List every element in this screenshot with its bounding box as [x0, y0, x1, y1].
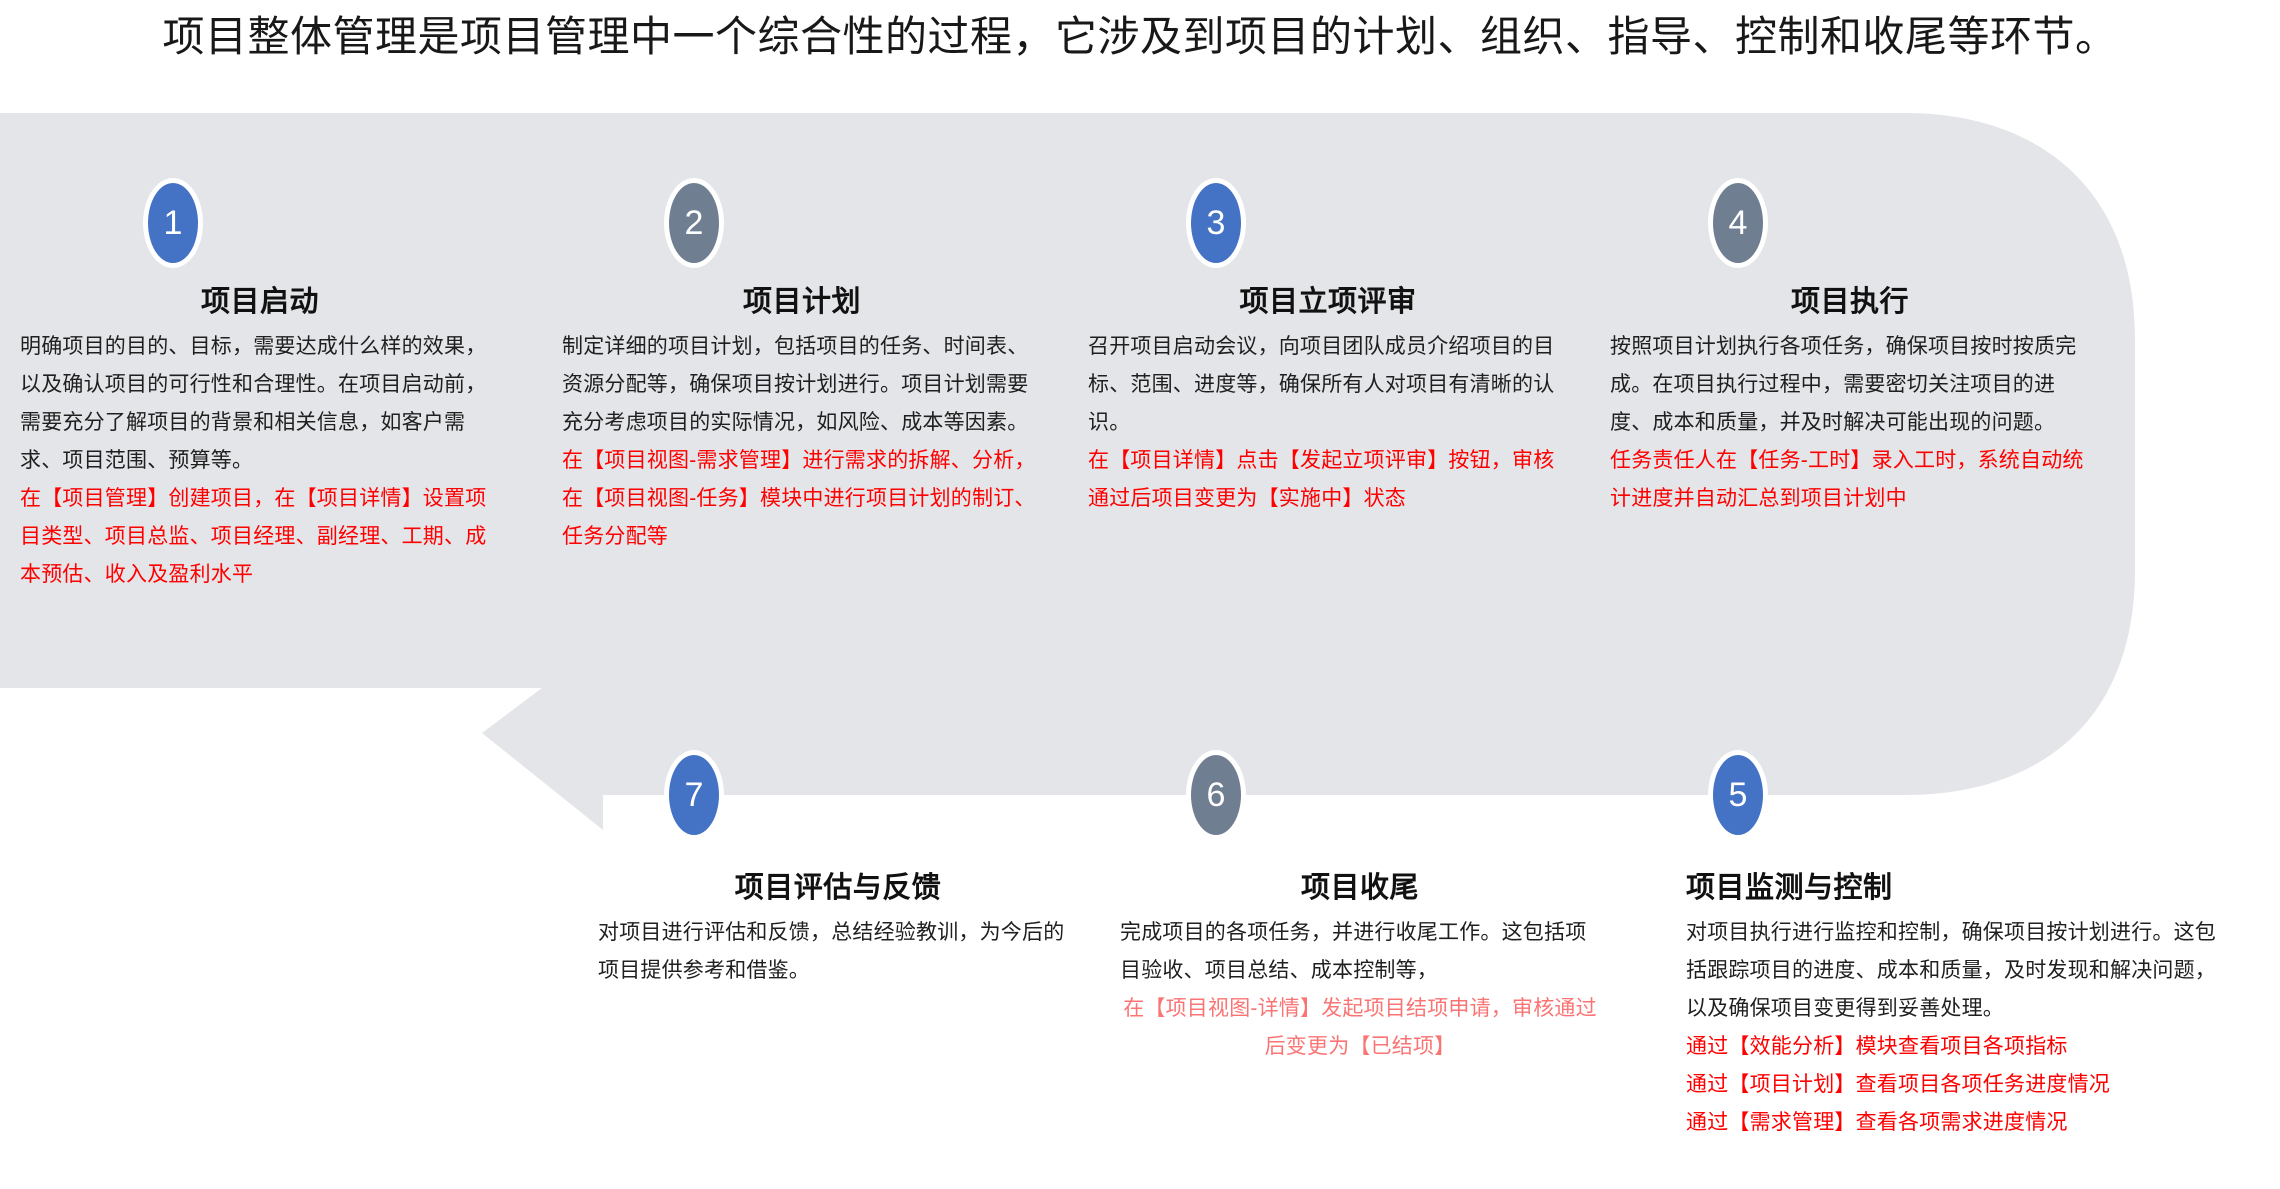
step-1-title: 项目启动 — [20, 282, 500, 322]
step-5-accent-line-3: 通过【需求管理】查看各项需求进度情况 — [1686, 1104, 2216, 1142]
step-badge-3[interactable]: 3 — [1186, 178, 1246, 268]
step-4-title: 项目执行 — [1610, 282, 2090, 322]
step-5-accent-line-2: 通过【项目计划】查看项目各项任务进度情况 — [1686, 1066, 2216, 1104]
step-block-1: 项目启动 明确项目的目的、目标，需要达成什么样的效果，以及确认项目的可行性和合理… — [20, 282, 500, 594]
step-badge-4[interactable]: 4 — [1708, 178, 1768, 268]
step-block-2: 项目计划 制定详细的项目计划，包括项目的任务、时间表、资源分配等，确保项目按计划… — [562, 282, 1042, 556]
step-badge-7[interactable]: 7 — [664, 750, 724, 840]
step-badge-7-number: 7 — [685, 778, 704, 812]
step-badge-5-number: 5 — [1729, 778, 1748, 812]
step-badge-2-number: 2 — [685, 206, 704, 240]
step-badge-2[interactable]: 2 — [664, 178, 724, 268]
step-5-accent-line-1: 通过【效能分析】模块查看项目各项指标 — [1686, 1028, 2216, 1066]
step-3-title: 项目立项评审 — [1088, 282, 1568, 322]
step-block-4: 项目执行 按照项目计划执行各项任务，确保项目按时按质完成。在项目执行过程中，需要… — [1610, 282, 2090, 518]
step-badge-6-number: 6 — [1207, 778, 1226, 812]
step-badge-1[interactable]: 1 — [143, 178, 203, 268]
step-badge-6[interactable]: 6 — [1186, 750, 1246, 840]
infographic-canvas: 项目整体管理是项目管理中一个综合性的过程，它涉及到项目的计划、组织、指导、控制和… — [0, 0, 2280, 1189]
step-6-accent: 在【项目视图-详情】发起项目结项申请，审核通过后变更为【已结项】 — [1120, 990, 1600, 1066]
step-1-body: 明确项目的目的、目标，需要达成什么样的效果，以及确认项目的可行性和合理性。在项目… — [20, 328, 500, 480]
step-badge-4-number: 4 — [1729, 206, 1748, 240]
step-2-body: 制定详细的项目计划，包括项目的任务、时间表、资源分配等，确保项目按计划进行。项目… — [562, 328, 1042, 442]
step-badge-1-number: 1 — [164, 206, 183, 240]
step-7-body: 对项目进行评估和反馈，总结经验教训，为今后的项目提供参考和借鉴。 — [598, 914, 1078, 990]
step-block-5: 项目监测与控制 对项目执行进行监控和控制，确保项目按计划进行。这包括跟踪项目的进… — [1686, 868, 2216, 1142]
step-block-6: 项目收尾 完成项目的各项任务，并进行收尾工作。这包括项目验收、项目总结、成本控制… — [1120, 868, 1600, 1066]
step-5-title: 项目监测与控制 — [1686, 868, 2216, 908]
step-4-accent: 任务责任人在【任务-工时】录入工时，系统自动统计进度并自动汇总到项目计划中 — [1610, 442, 2090, 518]
step-badge-5[interactable]: 5 — [1708, 750, 1768, 840]
step-3-body: 召开项目启动会议，向项目团队成员介绍项目的目标、范围、进度等，确保所有人对项目有… — [1088, 328, 1568, 442]
step-block-7: 项目评估与反馈 对项目进行评估和反馈，总结经验教训，为今后的项目提供参考和借鉴。 — [598, 868, 1078, 990]
step-1-accent: 在【项目管理】创建项目，在【项目详情】设置项目类型、项目总监、项目经理、副经理、… — [20, 480, 500, 594]
step-6-title: 项目收尾 — [1120, 868, 1600, 908]
step-badge-3-number: 3 — [1207, 206, 1226, 240]
step-7-title: 项目评估与反馈 — [598, 868, 1078, 908]
page-title: 项目整体管理是项目管理中一个综合性的过程，它涉及到项目的计划、组织、指导、控制和… — [0, 8, 2280, 66]
step-4-body: 按照项目计划执行各项任务，确保项目按时按质完成。在项目执行过程中，需要密切关注项… — [1610, 328, 2090, 442]
step-block-3: 项目立项评审 召开项目启动会议，向项目团队成员介绍项目的目标、范围、进度等，确保… — [1088, 282, 1568, 518]
step-5-body: 对项目执行进行监控和控制，确保项目按计划进行。这包括跟踪项目的进度、成本和质量，… — [1686, 914, 2216, 1028]
step-2-title: 项目计划 — [562, 282, 1042, 322]
step-3-accent: 在【项目详情】点击【发起立项评审】按钮，审核通过后项目变更为【实施中】状态 — [1088, 442, 1568, 518]
step-6-body: 完成项目的各项任务，并进行收尾工作。这包括项目验收、项目总结、成本控制等， — [1120, 914, 1600, 990]
step-2-accent: 在【项目视图-需求管理】进行需求的拆解、分析，在【项目视图-任务】模块中进行项目… — [562, 442, 1042, 556]
